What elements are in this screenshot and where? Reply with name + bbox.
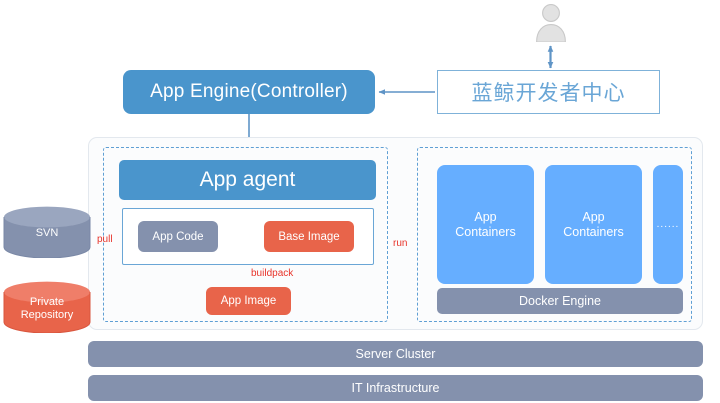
docker-engine-box[interactable]: Docker Engine (437, 288, 683, 314)
app-engine-controller-box[interactable]: App Engine(Controller) (123, 70, 375, 114)
edge-label-run: run (393, 238, 407, 249)
app-containers-line1-2: App (582, 210, 604, 224)
cylinder-shape-repo (3, 281, 91, 333)
app-agent-box[interactable]: App agent (119, 160, 376, 200)
it-infrastructure-bar[interactable]: IT Infrastructure (88, 375, 703, 401)
app-containers-box-more[interactable]: ...... (653, 165, 683, 284)
app-containers-box-1[interactable]: App Containers (437, 165, 534, 284)
cylinder-shape-svn (3, 206, 91, 258)
svn-repository-cylinder[interactable]: SVN (3, 206, 91, 258)
edge-label-buildpack: buildpack (251, 268, 293, 279)
app-containers-line2-2: Containers (563, 225, 623, 239)
server-cluster-bar[interactable]: Server Cluster (88, 341, 703, 367)
private-repository-cylinder[interactable]: Private Repository (3, 281, 91, 333)
base-image-chip[interactable]: Base Image (264, 221, 354, 252)
user-person-icon (532, 2, 570, 42)
app-image-chip[interactable]: App Image (206, 287, 291, 315)
app-containers-line1-1: App (474, 210, 496, 224)
app-containers-box-2[interactable]: App Containers (545, 165, 642, 284)
bluekking-developer-center-box[interactable]: 蓝鲸开发者中心 (437, 70, 660, 114)
edge-label-pull: pull (97, 234, 113, 245)
architecture-diagram-canvas: App Engine(Controller) 蓝鲸开发者中心 App agent… (0, 0, 720, 403)
app-containers-line2-1: Containers (455, 225, 515, 239)
app-code-chip[interactable]: App Code (138, 221, 218, 252)
app-containers-ellipsis: ...... (657, 217, 680, 232)
